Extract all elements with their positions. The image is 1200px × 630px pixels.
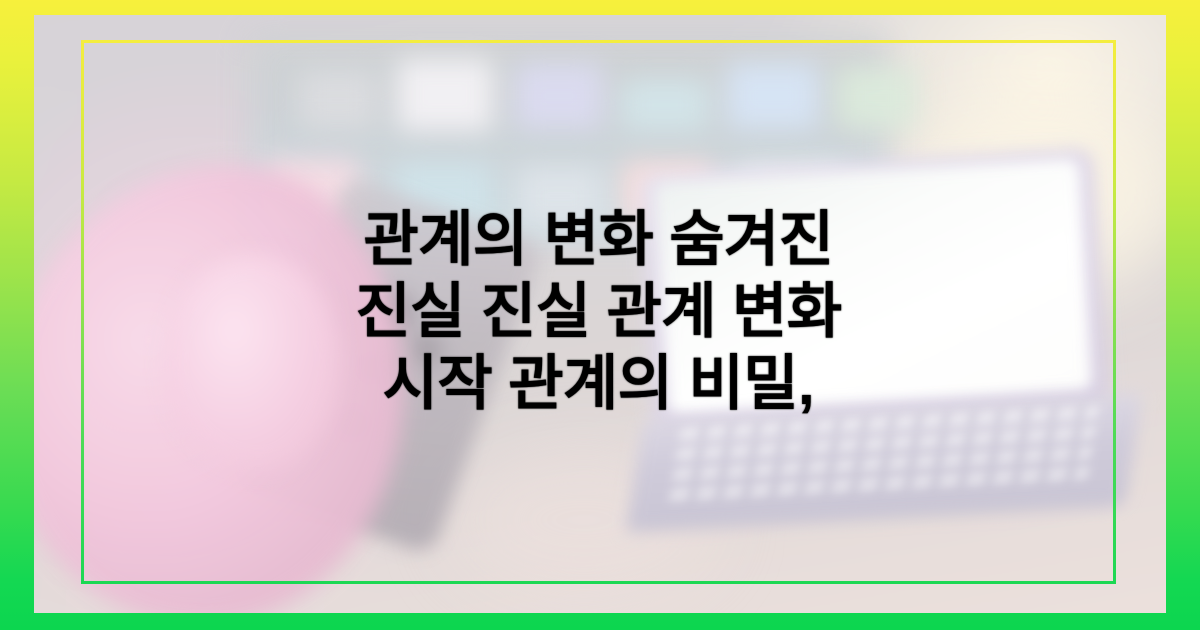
remote-button xyxy=(408,330,446,368)
tv-tile xyxy=(397,59,493,131)
tv-tile xyxy=(837,67,917,129)
thumb xyxy=(164,255,339,470)
thumbnail-canvas: 관계의 변화 숨겨진 진실 진실 관계 변화 시작 관계의 비밀, xyxy=(0,0,1200,630)
tv-tile xyxy=(621,79,709,131)
background-photo-plate xyxy=(34,15,1166,613)
laptop-screen xyxy=(655,159,1092,416)
tv-tile xyxy=(299,71,377,129)
tv-tile xyxy=(727,63,819,129)
tv-tile xyxy=(515,63,603,129)
tv-tile xyxy=(517,167,603,225)
